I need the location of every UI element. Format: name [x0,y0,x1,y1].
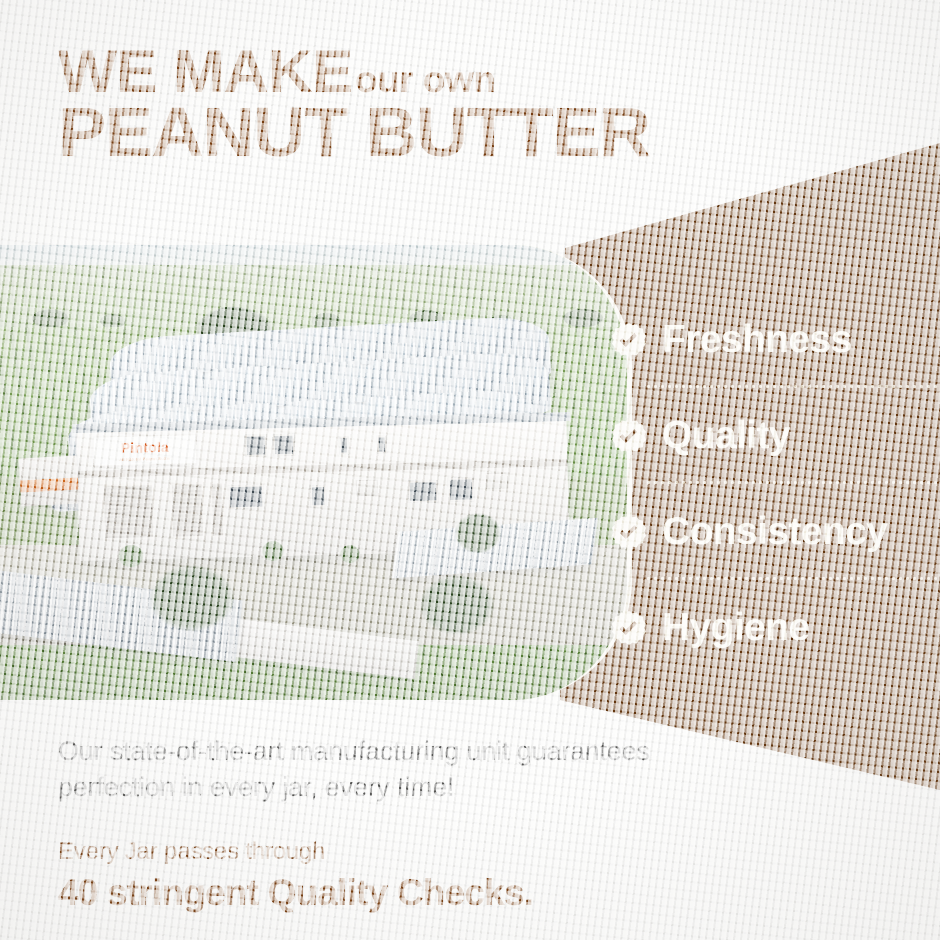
check-badge-icon [612,323,646,357]
poster-canvas: WE MAKE our own PEANUT BUTTER [0,0,940,940]
checklist-label: Consistency [662,510,887,554]
kicker-text: Every Jar passes through [58,838,325,866]
quality-checks-highlight: 40 stringent Quality Checks. [58,872,533,914]
check-badge-icon [612,419,646,453]
check-badge-icon [612,515,646,549]
quality-checklist: Freshness Quality Consistency Hy [612,292,940,676]
page-title: WE MAKE our own PEANUT BUTTER [58,44,630,167]
factory-photo: Pintola All Natural Peanut Butter [0,245,632,700]
photo-shading [0,245,627,700]
headline-line-2: PEANUT BUTTER [58,97,650,167]
checklist-label: Quality [662,414,790,458]
checklist-item-hygiene[interactable]: Hygiene [612,580,940,676]
photo-content: Pintola All Natural Peanut Butter [0,245,627,700]
headline-line-1: WE MAKE our own [58,44,630,99]
headline-accent-text: our own [355,63,495,97]
checklist-label: Hygiene [662,606,810,650]
checklist-label: Freshness [662,318,852,362]
checklist-item-freshness[interactable]: Freshness [612,292,940,388]
check-badge-icon [612,611,646,645]
checklist-item-quality[interactable]: Quality [612,388,940,484]
description-paragraph: Our state-of-the-art manufacturing unit … [58,734,718,805]
checklist-item-consistency[interactable]: Consistency [612,484,940,580]
headline-main-text: WE MAKE [58,44,352,99]
